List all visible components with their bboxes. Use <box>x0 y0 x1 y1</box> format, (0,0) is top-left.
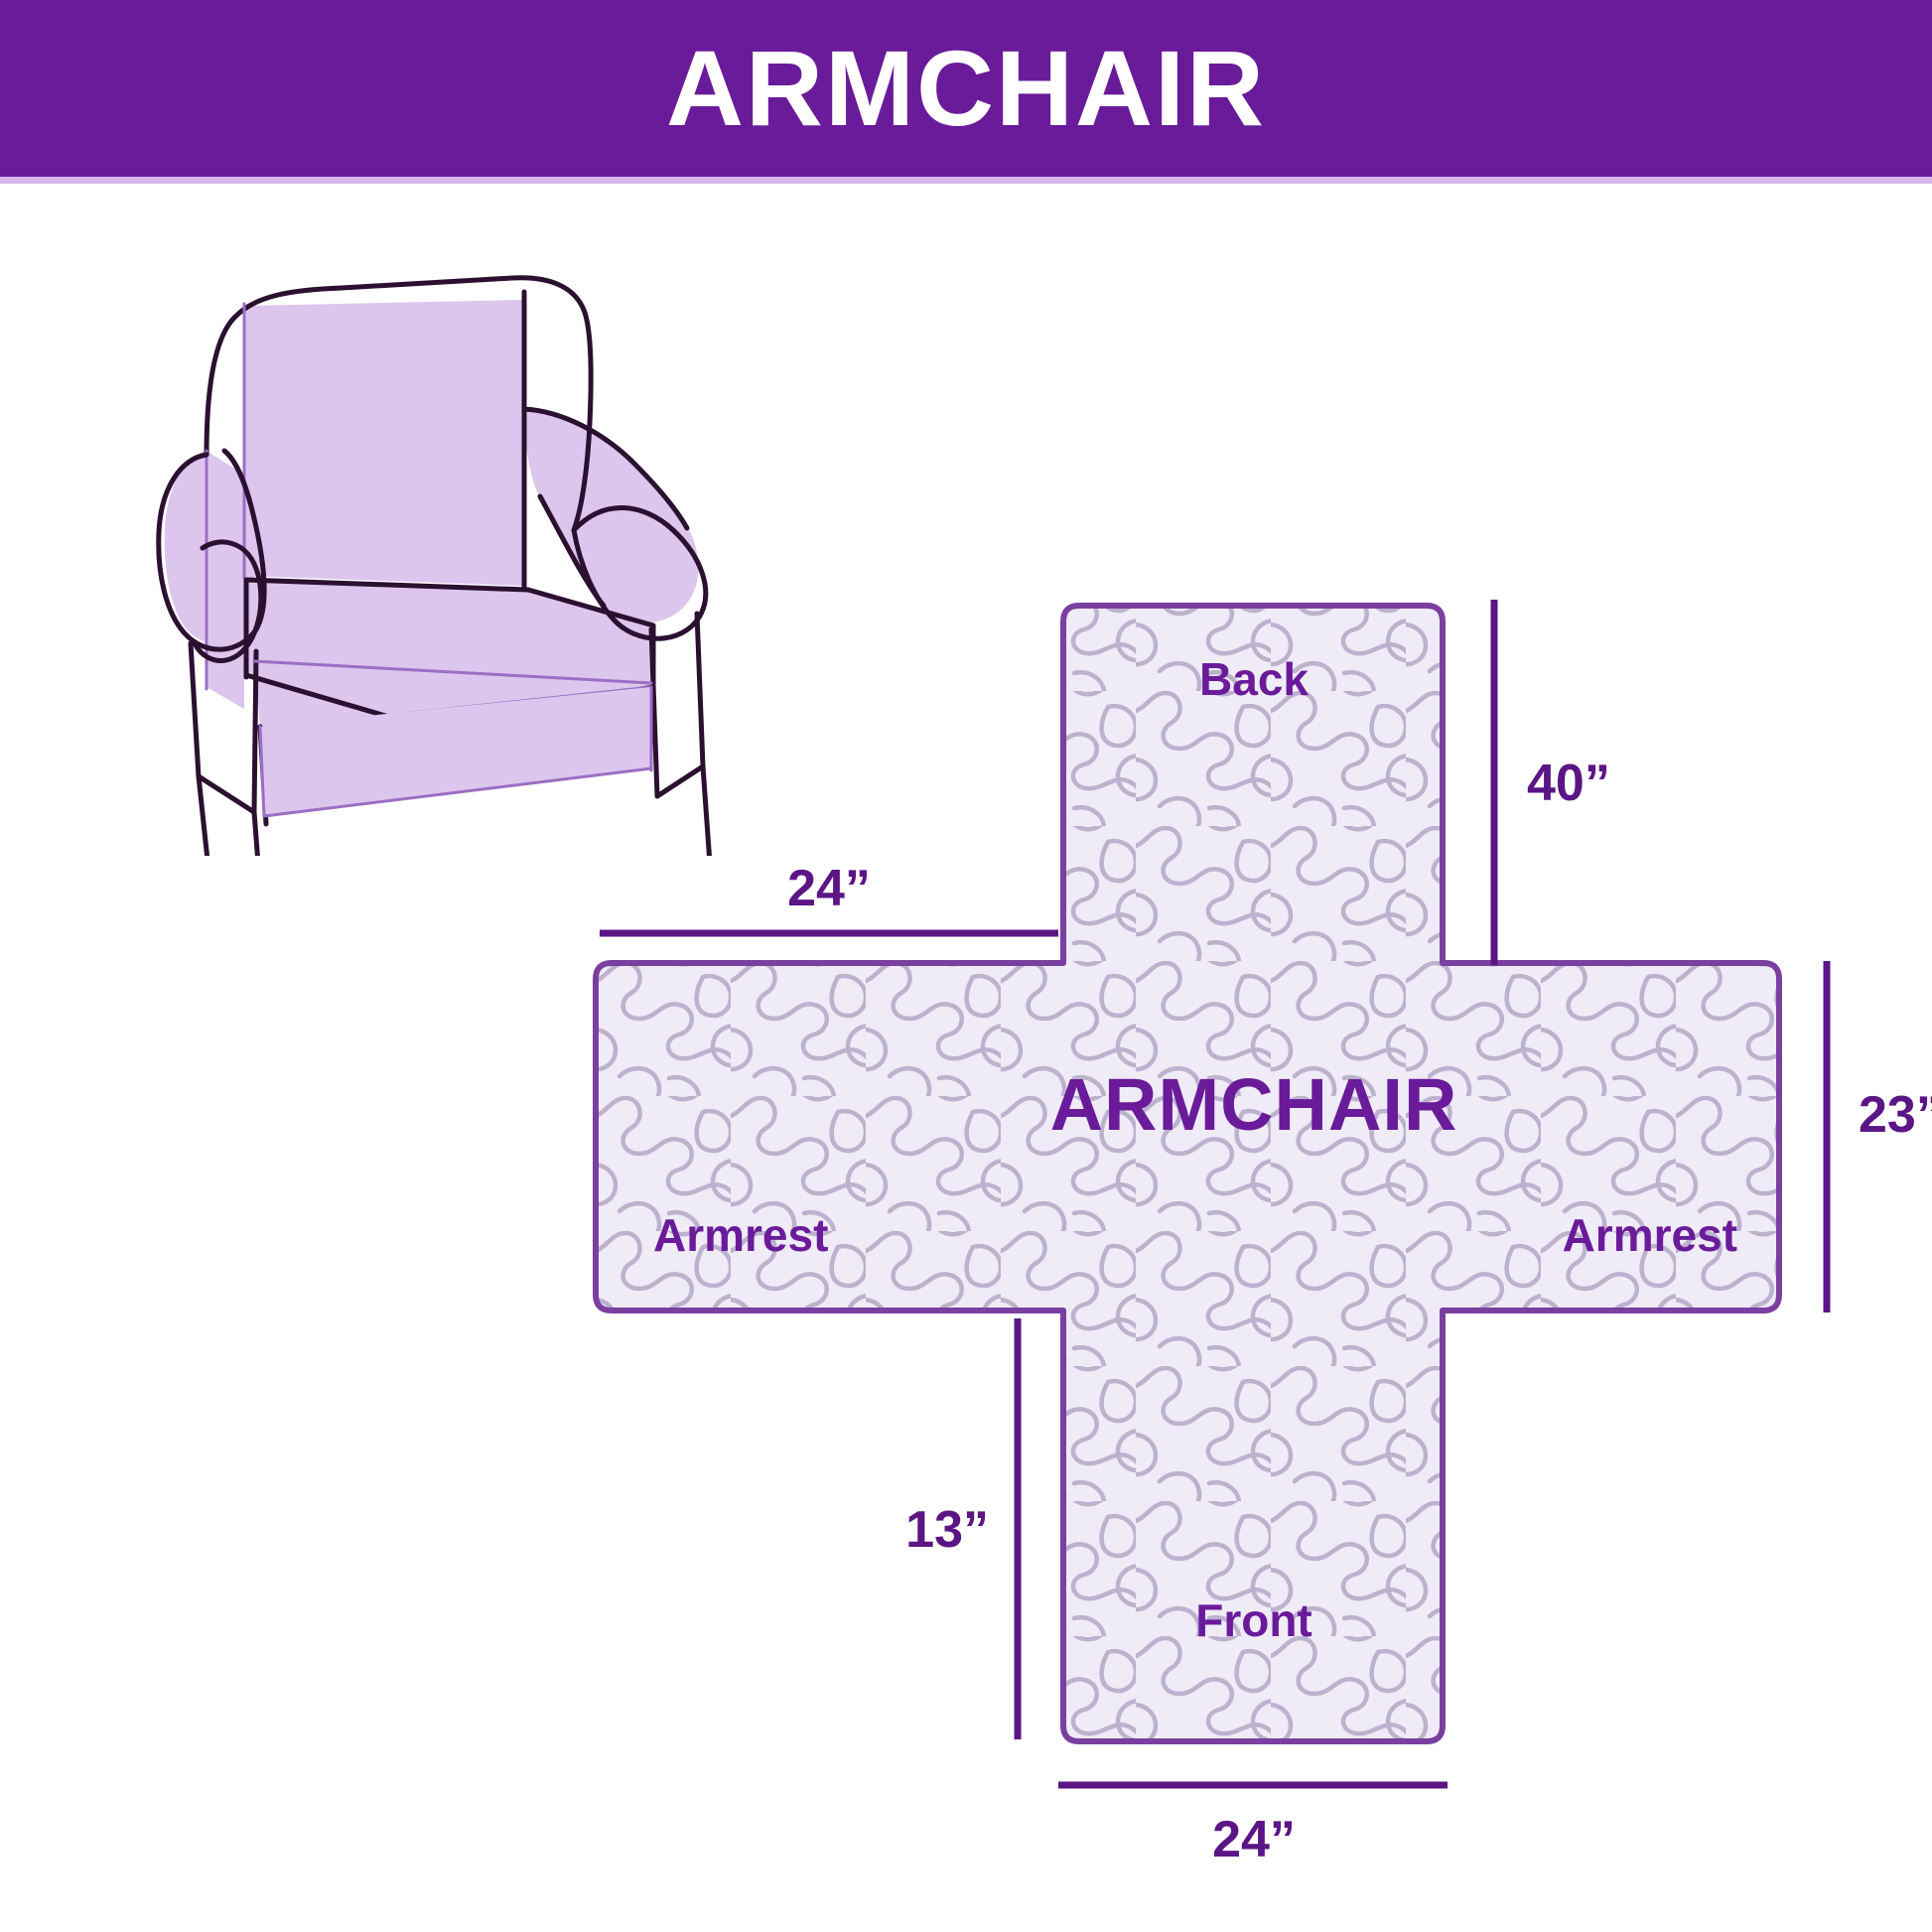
panel-label-center: ARMCHAIR <box>1050 1063 1458 1146</box>
header-divider <box>0 177 1932 184</box>
panel-label-back: Back <box>1199 653 1309 705</box>
cover-layout-diagram: Back ARMCHAIR Armrest Armrest Front 40” … <box>596 556 1932 1932</box>
dimension-center-height: 23” <box>1827 961 1932 1312</box>
panel-label-armrest-right: Armrest <box>1563 1209 1737 1261</box>
header-banner: ARMCHAIR <box>0 0 1932 177</box>
dimension-value-23: 23” <box>1859 1086 1932 1144</box>
dimension-value-40: 40” <box>1527 755 1610 812</box>
dimension-back-width: 24” <box>600 860 1058 933</box>
panel-label-armrest-left: Armrest <box>653 1209 828 1261</box>
dimension-front-height: 13” <box>905 1318 1018 1739</box>
dimension-front-width: 24” <box>1058 1785 1448 1868</box>
dimension-back-height: 40” <box>1494 600 1610 965</box>
product-dimension-infographic: ARMCHAIR <box>0 0 1932 1932</box>
panel-label-front: Front <box>1195 1594 1312 1646</box>
dimension-value-24-top: 24” <box>787 860 871 917</box>
dimension-value-13: 13” <box>905 1501 989 1559</box>
dimension-value-24-bottom: 24” <box>1212 1811 1296 1868</box>
page-title: ARMCHAIR <box>666 35 1266 142</box>
